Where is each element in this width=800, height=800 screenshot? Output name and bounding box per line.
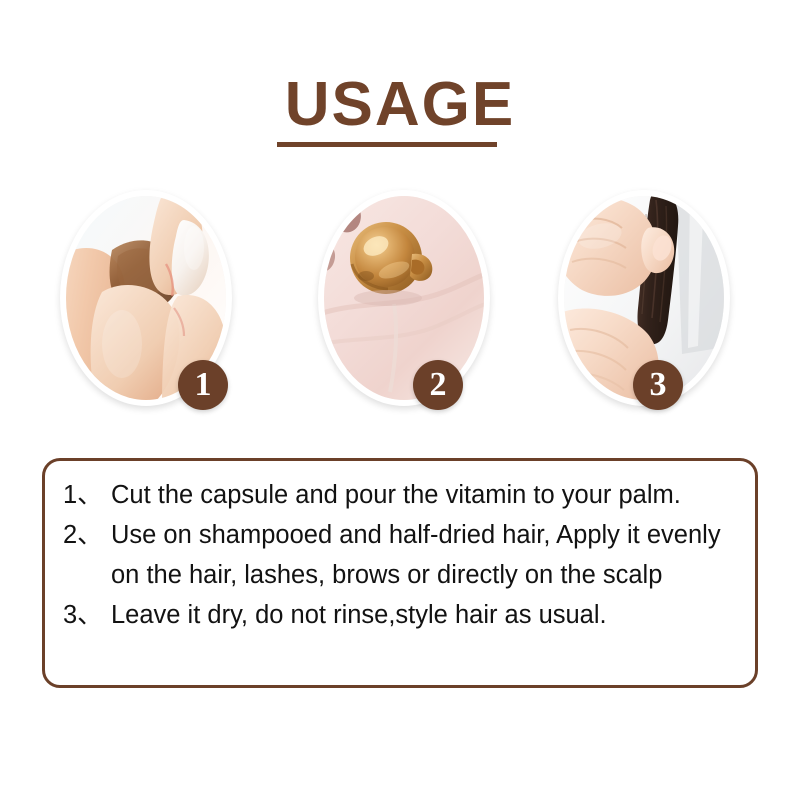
instruction-text-3: Leave it dry, do not rinse,style hair as… — [111, 595, 743, 635]
instruction-text-2-line-1: Use on shampooed and half-dried hair, Ap… — [111, 521, 640, 549]
instruction-item-2: 2、 Use on shampooed and half-dried hair,… — [63, 515, 743, 595]
instruction-item-3: 3、 Leave it dry, do not rinse,style hair… — [63, 595, 743, 635]
page-title-underline — [277, 142, 497, 147]
step-badge-2: 2 — [413, 360, 463, 410]
instruction-number-3: 3、 — [63, 595, 111, 635]
instruction-text-2: Use on shampooed and half-dried hair, Ap… — [111, 515, 743, 595]
instruction-text-2-line-3: the scalp — [560, 561, 662, 589]
instructions-box: 1、 Cut the capsule and pour the vitamin … — [42, 458, 758, 688]
page-title-container: USAGE — [0, 72, 800, 138]
instruction-number-2: 2、 — [63, 515, 111, 555]
step-badge-3: 3 — [633, 360, 683, 410]
golden-capsule-on-palm-photo — [324, 196, 484, 400]
instruction-number-1: 1、 — [63, 475, 111, 515]
instructions-list: 1、 Cut the capsule and pour the vitamin … — [63, 475, 743, 635]
page-title: USAGE — [285, 72, 515, 138]
step-badge-1: 1 — [178, 360, 228, 410]
instruction-text-1: Cut the capsule and pour the vitamin to … — [111, 475, 743, 515]
instruction-item-1: 1、 Cut the capsule and pour the vitamin … — [63, 475, 743, 515]
usage-step-2 — [318, 190, 490, 406]
